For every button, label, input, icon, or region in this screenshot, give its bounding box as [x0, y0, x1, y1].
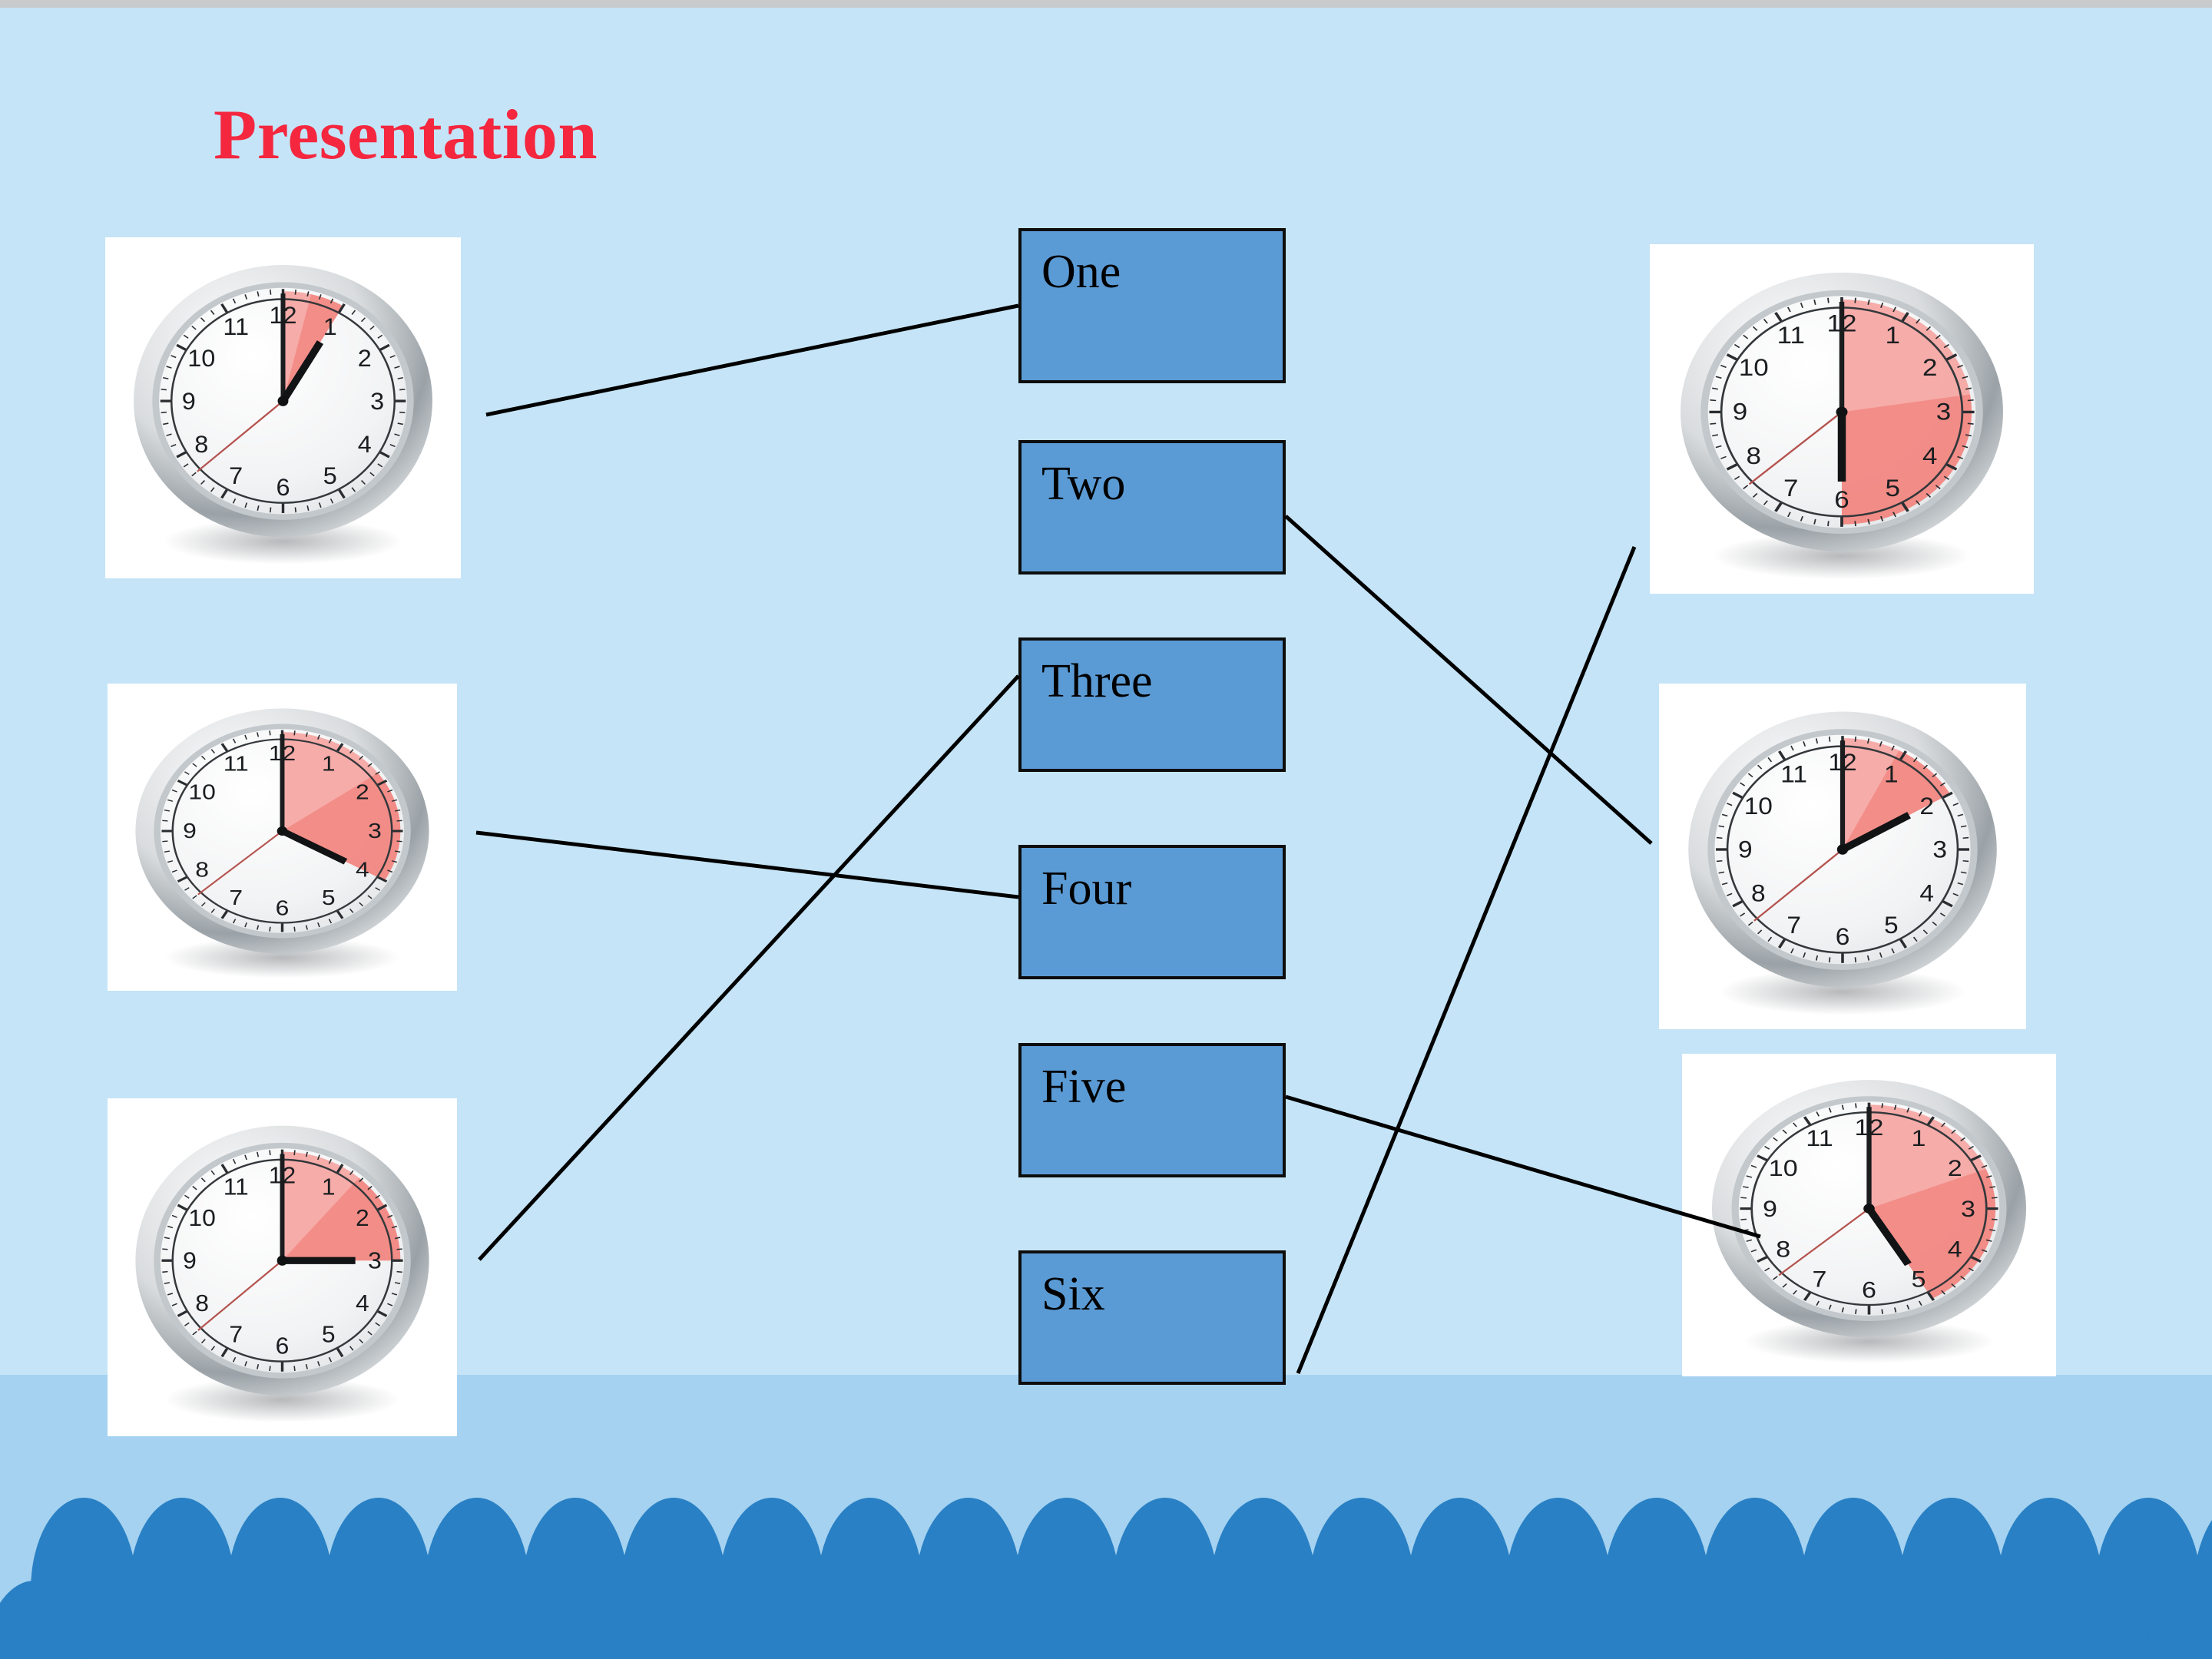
svg-text:3: 3 [1961, 1196, 1975, 1221]
audience-petal [178, 1581, 284, 1659]
svg-text:5: 5 [1912, 1267, 1926, 1292]
svg-text:6: 6 [276, 1333, 290, 1359]
label-box-five[interactable]: Five [1018, 1043, 1286, 1177]
top-gray-strip [0, 0, 2212, 8]
page-title: Presentation [214, 94, 598, 175]
svg-text:10: 10 [188, 780, 215, 804]
clock-image-clock-right-1: 121234567891011 [1650, 244, 2034, 594]
clock-image-clock-left-2: 121234567891011 [108, 684, 457, 991]
svg-text:3: 3 [368, 820, 382, 843]
svg-text:7: 7 [1813, 1267, 1827, 1292]
svg-text:5: 5 [322, 886, 336, 910]
svg-text:2: 2 [356, 1205, 369, 1231]
svg-text:4: 4 [356, 858, 369, 882]
svg-text:3: 3 [368, 1247, 382, 1273]
label-box-two[interactable]: Two [1018, 440, 1286, 575]
svg-text:4: 4 [1922, 442, 1937, 469]
audience-petal [80, 1581, 186, 1659]
svg-text:3: 3 [370, 388, 384, 415]
svg-text:3: 3 [1936, 399, 1951, 426]
label-box-text: Two [1041, 458, 1125, 510]
svg-text:10: 10 [188, 1205, 215, 1231]
audience-petal [1849, 1581, 1955, 1659]
svg-text:2: 2 [356, 780, 369, 804]
audience-petal [670, 1581, 776, 1659]
svg-text:7: 7 [1783, 475, 1798, 502]
svg-text:4: 4 [1919, 879, 1934, 906]
audience-petal [2144, 1581, 2212, 1659]
svg-text:1: 1 [322, 752, 336, 776]
svg-text:1: 1 [323, 313, 337, 340]
svg-text:7: 7 [229, 1321, 243, 1347]
svg-text:8: 8 [195, 858, 209, 882]
audience-petal [1653, 1581, 1759, 1659]
audience-petal [0, 1581, 88, 1659]
svg-text:1: 1 [322, 1174, 336, 1200]
audience-petal [571, 1581, 677, 1659]
svg-text:9: 9 [1738, 836, 1753, 863]
svg-text:4: 4 [356, 1290, 369, 1316]
audience-petal [1555, 1581, 1661, 1659]
svg-text:10: 10 [1739, 354, 1769, 381]
svg-text:11: 11 [223, 313, 249, 340]
svg-text:6: 6 [276, 896, 290, 920]
audience-petal-row-front [0, 1581, 2212, 1659]
svg-text:11: 11 [1806, 1125, 1833, 1151]
svg-text:7: 7 [229, 886, 243, 910]
svg-text:9: 9 [1733, 399, 1747, 426]
label-box-four[interactable]: Four [1018, 845, 1286, 979]
audience-petal [1456, 1581, 1562, 1659]
svg-text:2: 2 [358, 345, 372, 372]
svg-text:5: 5 [323, 462, 337, 488]
clock-image-clock-left-3: 121234567891011 [108, 1098, 457, 1436]
svg-text:1: 1 [1912, 1125, 1926, 1151]
audience-petal [276, 1581, 382, 1659]
audience-petal [473, 1581, 579, 1659]
label-box-six[interactable]: Six [1018, 1250, 1286, 1385]
svg-text:6: 6 [276, 473, 290, 500]
svg-text:1: 1 [1886, 322, 1900, 349]
svg-text:4: 4 [358, 430, 372, 457]
audience-petal [1948, 1581, 2054, 1659]
slide-canvas: Presentation 121234567891011121234567891… [0, 0, 2212, 1659]
svg-text:10: 10 [1744, 793, 1773, 820]
svg-text:11: 11 [1780, 760, 1807, 787]
svg-text:5: 5 [1886, 475, 1900, 502]
label-box-one[interactable]: One [1018, 228, 1286, 383]
audience-petal [1751, 1581, 1857, 1659]
svg-text:9: 9 [182, 388, 196, 415]
label-box-text: Four [1041, 863, 1131, 915]
svg-text:8: 8 [1776, 1237, 1790, 1262]
audience-petal [768, 1581, 874, 1659]
svg-text:6: 6 [1862, 1277, 1876, 1303]
svg-text:8: 8 [1751, 879, 1766, 906]
svg-text:10: 10 [1769, 1155, 1798, 1181]
svg-text:9: 9 [1763, 1196, 1777, 1221]
audience-petal [1260, 1581, 1366, 1659]
audience-petal [1063, 1581, 1169, 1659]
audience-petal [1358, 1581, 1464, 1659]
svg-text:3: 3 [1932, 836, 1947, 863]
svg-text:7: 7 [1786, 912, 1801, 939]
svg-text:11: 11 [224, 752, 249, 776]
svg-text:2: 2 [1919, 793, 1934, 820]
svg-text:5: 5 [1884, 912, 1899, 939]
svg-text:5: 5 [322, 1321, 336, 1347]
clock-image-clock-right-2: 121234567891011 [1659, 684, 2026, 1029]
label-box-text: Six [1041, 1268, 1105, 1320]
audience-petal [866, 1581, 972, 1659]
svg-text:8: 8 [195, 1290, 209, 1316]
svg-text:2: 2 [1948, 1155, 1962, 1181]
svg-text:8: 8 [194, 430, 208, 457]
svg-text:1: 1 [1884, 760, 1899, 787]
svg-text:8: 8 [1747, 442, 1761, 469]
svg-text:4: 4 [1948, 1237, 1962, 1262]
clock-image-clock-left-1: 121234567891011 [105, 237, 461, 578]
label-box-text: One [1041, 246, 1121, 298]
svg-text:10: 10 [187, 345, 215, 372]
audience-petal [375, 1581, 481, 1659]
svg-text:11: 11 [1777, 322, 1805, 349]
clock-image-clock-right-3: 121234567891011 [1682, 1054, 2056, 1376]
label-box-text: Five [1041, 1061, 1126, 1113]
svg-text:6: 6 [1834, 487, 1849, 514]
svg-text:7: 7 [229, 462, 243, 488]
label-box-text: Three [1041, 655, 1153, 707]
svg-text:2: 2 [1922, 354, 1937, 381]
svg-text:9: 9 [183, 820, 197, 843]
audience-petal [1161, 1581, 1267, 1659]
svg-text:11: 11 [224, 1174, 249, 1200]
audience-petal [2046, 1581, 2152, 1659]
svg-text:9: 9 [183, 1247, 197, 1273]
audience-petal [965, 1581, 1071, 1659]
svg-text:6: 6 [1836, 923, 1850, 950]
label-box-three[interactable]: Three [1018, 637, 1286, 772]
